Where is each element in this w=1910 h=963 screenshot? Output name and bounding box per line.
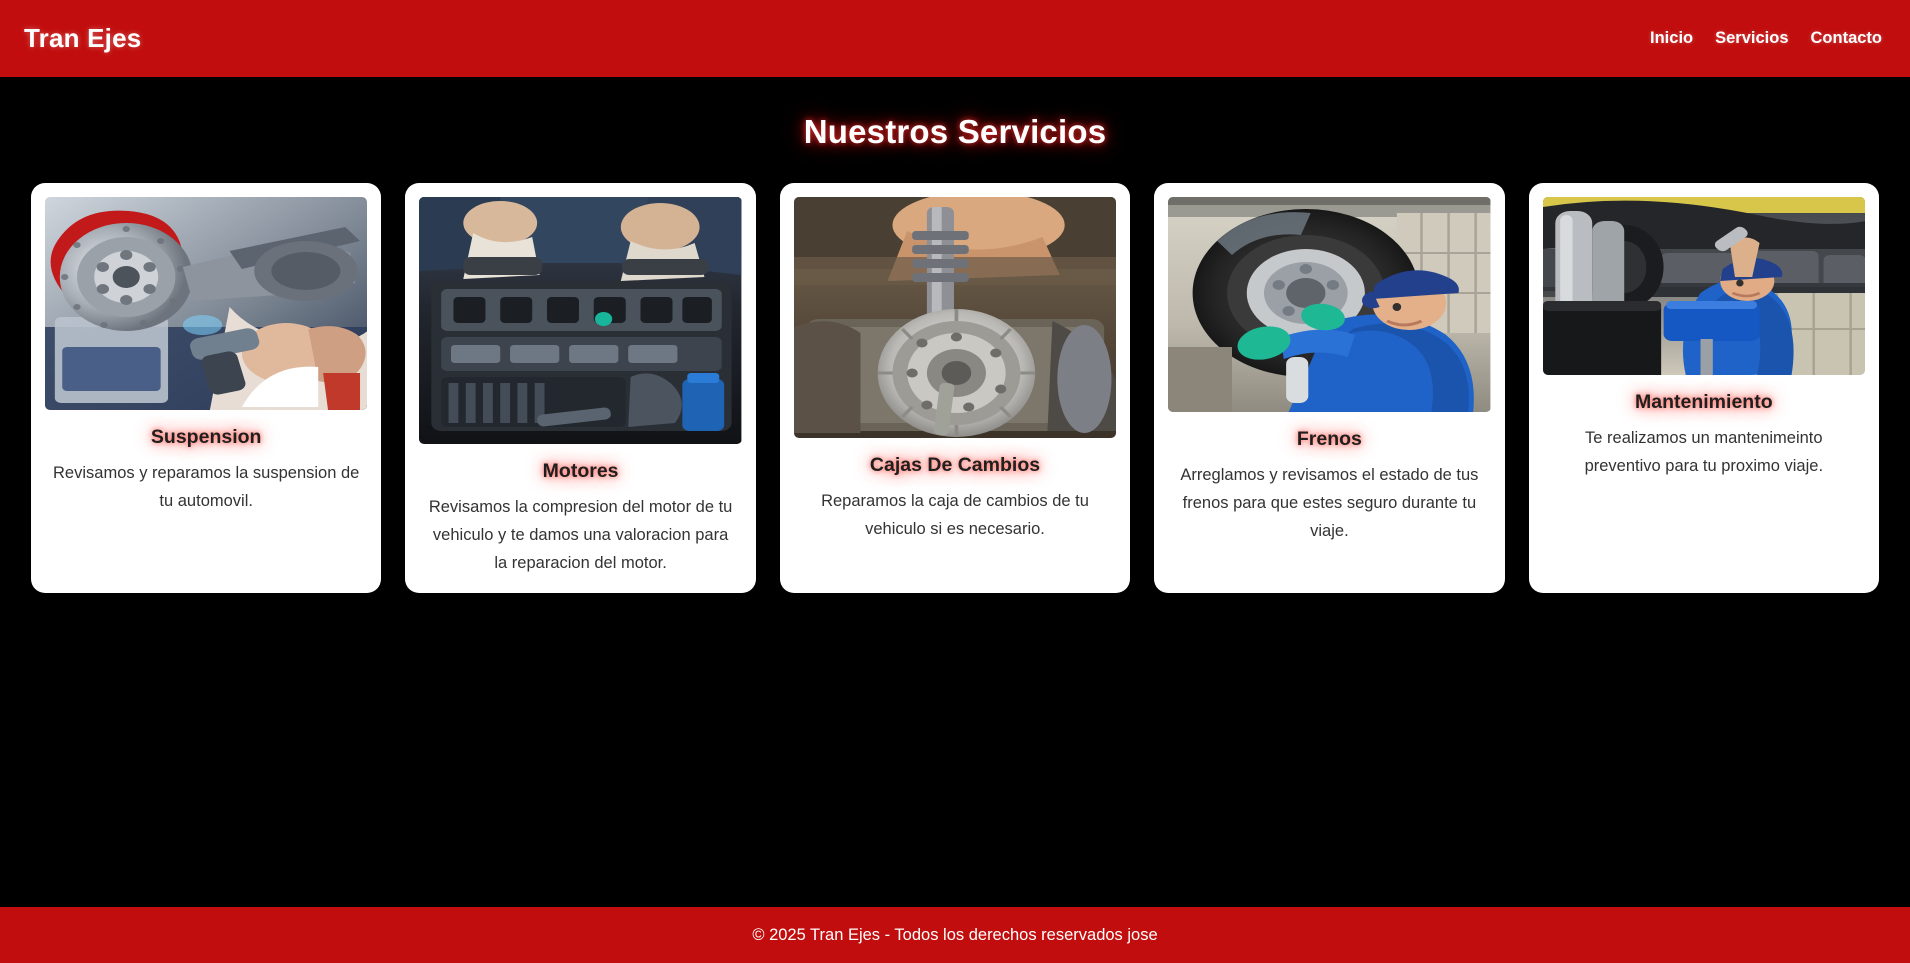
service-card-description: Revisamos la compresion del motor de tu … [419,493,741,577]
service-card-cajas-de-cambios[interactable]: Cajas De Cambios Reparamos la caja de ca… [780,183,1130,593]
nav-link-contacto[interactable]: Contacto [1811,29,1883,48]
motores-image [419,197,741,444]
page-title: Nuestros Servicios [0,113,1910,151]
service-card-description: Reparamos la caja de cambios de tu vehic… [794,487,1116,543]
site-footer: © 2025 Tran Ejes - Todos los derechos re… [0,907,1910,963]
service-card-title: Motores [543,460,619,483]
service-card-title: Suspension [151,426,262,449]
nav-link-servicios[interactable]: Servicios [1715,29,1788,48]
service-card-description: Arreglamos y revisamos el estado de tus … [1168,461,1490,545]
nav-link-inicio[interactable]: Inicio [1650,29,1693,48]
main-content: Nuestros Servicios [0,77,1910,907]
services-card-grid: Suspension Revisamos y reparamos la susp… [0,183,1910,593]
suspension-image [45,197,367,410]
cajas-de-cambios-image [794,197,1116,438]
site-brand[interactable]: Tran Ejes [24,23,141,54]
service-card-title: Cajas De Cambios [870,454,1040,477]
frenos-image [1168,197,1490,412]
primary-navigation: Inicio Servicios Contacto [1650,29,1882,48]
service-card-motores[interactable]: Motores Revisamos la compresion del moto… [405,183,755,593]
service-card-description: Te realizamos un mantenimeinto preventiv… [1543,424,1865,480]
service-card-title: Frenos [1297,428,1362,451]
mantenimiento-image [1543,197,1865,375]
site-header: Tran Ejes Inicio Servicios Contacto [0,0,1910,77]
service-card-frenos[interactable]: Frenos Arreglamos y revisamos el estado … [1154,183,1504,593]
service-card-mantenimiento[interactable]: Mantenimiento Te realizamos un mantenime… [1529,183,1879,593]
service-card-description: Revisamos y reparamos la suspension de t… [45,459,367,515]
page-root: Tran Ejes Inicio Servicios Contacto Nues… [0,0,1910,963]
service-card-suspension[interactable]: Suspension Revisamos y reparamos la susp… [31,183,381,593]
service-card-title: Mantenimiento [1635,391,1773,414]
footer-copyright: © 2025 Tran Ejes - Todos los derechos re… [752,926,1157,945]
